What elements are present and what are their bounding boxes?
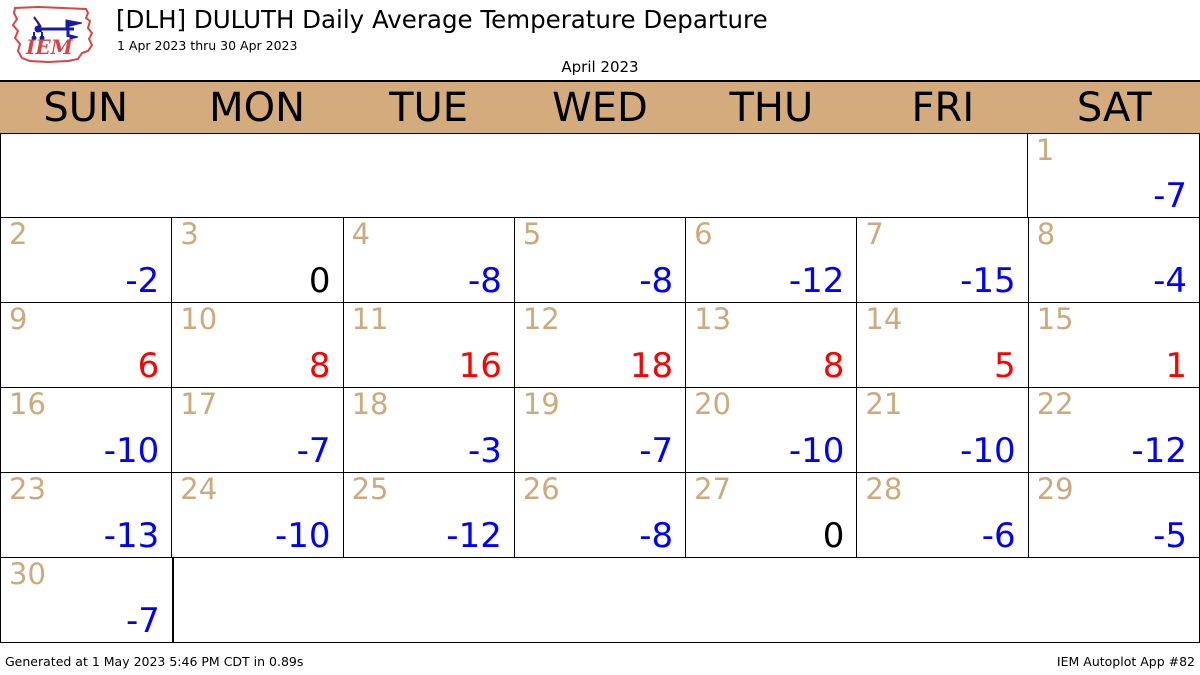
dow-header-tue: TUE	[343, 82, 514, 133]
calendar-day-cell[interactable]: 19-7	[514, 387, 686, 473]
calendar-day-cell[interactable]: 1-7	[1027, 133, 1200, 218]
calendar-day-value: -13	[104, 519, 160, 555]
iem-logo: IEM	[8, 4, 104, 66]
calendar-day-value: -12	[446, 519, 502, 555]
calendar-day-number: 7	[865, 219, 883, 249]
calendar-day-value: -10	[275, 519, 331, 555]
calendar-day-number: 10	[180, 304, 217, 334]
page-subtitle: 1 Apr 2023 thru 30 Apr 2023	[117, 38, 297, 53]
calendar-day-number: 1	[1036, 135, 1054, 165]
calendar-day-number: 22	[1037, 389, 1074, 419]
calendar-day-number: 18	[352, 389, 389, 419]
calendar-day-cell[interactable]: 20-10	[685, 387, 857, 473]
calendar-day-number: 15	[1037, 304, 1074, 334]
calendar-day-number: 17	[180, 389, 217, 419]
calendar-day-cell[interactable]: 108	[171, 302, 343, 388]
calendar-day-value: -7	[126, 604, 160, 640]
calendar-day-number: 14	[865, 304, 902, 334]
calendar-day-cell[interactable]: 138	[685, 302, 857, 388]
calendar-day-number: 16	[9, 389, 46, 419]
calendar-day-value: -10	[104, 434, 160, 470]
calendar-day-value: -4	[1153, 264, 1187, 300]
calendar-day-cell[interactable]: 96	[0, 302, 172, 388]
calendar-day-value: 18	[630, 349, 673, 385]
calendar-blank-cells	[173, 557, 1200, 643]
calendar-day-cell[interactable]: 6-12	[685, 217, 857, 303]
calendar-day-value: 0	[309, 264, 331, 300]
calendar-day-number: 5	[523, 219, 541, 249]
calendar-day-number: 23	[9, 474, 46, 504]
calendar-day-number: 19	[523, 389, 560, 419]
calendar-day-number: 11	[352, 304, 389, 334]
calendar-day-cell[interactable]: 25-12	[343, 472, 515, 558]
calendar-day-value: -5	[1153, 519, 1187, 555]
day-of-week-header-row: SUNMONTUEWEDTHUFRISAT	[0, 80, 1200, 134]
calendar-day-value: -15	[960, 264, 1016, 300]
dow-header-fri: FRI	[857, 82, 1028, 133]
calendar-week-row: 2-2304-85-86-127-158-4	[0, 218, 1200, 303]
iem-logo-icon: IEM	[8, 4, 104, 66]
calendar-day-value: 0	[823, 519, 845, 555]
calendar-day-number: 8	[1037, 219, 1055, 249]
calendar-day-value: -3	[468, 434, 502, 470]
iem-logo-text: IEM	[25, 35, 74, 59]
dow-header-thu: THU	[686, 82, 857, 133]
calendar-day-cell[interactable]: 151	[1028, 302, 1200, 388]
calendar-week-row: 16-1017-718-319-720-1021-1022-12	[0, 388, 1200, 473]
calendar-day-cell[interactable]: 21-10	[856, 387, 1028, 473]
dow-header-sun: SUN	[0, 82, 171, 133]
calendar-day-cell[interactable]: 29-5	[1028, 472, 1200, 558]
calendar-day-number: 13	[694, 304, 731, 334]
calendar-day-value: -10	[789, 434, 845, 470]
calendar-day-cell[interactable]: 30	[171, 217, 343, 303]
calendar-day-cell[interactable]: 16-10	[0, 387, 172, 473]
calendar-day-value: -7	[1153, 179, 1187, 215]
page-title: [DLH] DULUTH Daily Average Temperature D…	[116, 5, 768, 34]
dow-header-mon: MON	[171, 82, 342, 133]
page-header: IEM [DLH] DULUTH Daily Average Temperatu…	[0, 0, 1200, 78]
calendar-day-number: 6	[694, 219, 712, 249]
calendar-day-value: -12	[789, 264, 845, 300]
calendar-day-value: 5	[994, 349, 1016, 385]
calendar-day-cell[interactable]: 270	[685, 472, 857, 558]
calendar-day-number: 30	[9, 559, 46, 589]
calendar-day-number: 25	[352, 474, 389, 504]
calendar-day-value: -6	[982, 519, 1016, 555]
calendar-day-value: 16	[459, 349, 502, 385]
calendar-day-cell[interactable]: 28-6	[856, 472, 1028, 558]
calendar-day-number: 29	[1037, 474, 1074, 504]
calendar-day-value: 6	[138, 349, 160, 385]
calendar-day-number: 3	[180, 219, 198, 249]
dow-header-sat: SAT	[1029, 82, 1200, 133]
calendar-day-value: -8	[639, 264, 673, 300]
calendar-day-value: -7	[297, 434, 331, 470]
calendar-day-number: 24	[180, 474, 217, 504]
calendar-day-number: 27	[694, 474, 731, 504]
calendar-day-value: -2	[125, 264, 159, 300]
calendar-week-row: 9610811161218138145151	[0, 303, 1200, 388]
calendar-day-number: 2	[9, 219, 27, 249]
calendar-day-number: 21	[865, 389, 902, 419]
calendar-day-number: 4	[352, 219, 370, 249]
month-label: April 2023	[0, 58, 1200, 76]
calendar-day-cell[interactable]: 22-12	[1028, 387, 1200, 473]
calendar-week-row: 1-7	[0, 134, 1200, 218]
dow-header-wed: WED	[514, 82, 685, 133]
calendar-day-number: 9	[9, 304, 27, 334]
calendar-day-cell[interactable]: 5-8	[514, 217, 686, 303]
calendar-week-row: 23-1324-1025-1226-827028-629-5	[0, 473, 1200, 558]
calendar-day-cell[interactable]: 17-7	[171, 387, 343, 473]
calendar-day-value: -12	[1131, 434, 1187, 470]
calendar-day-value: -7	[639, 434, 673, 470]
calendar-day-cell[interactable]: 24-10	[171, 472, 343, 558]
calendar-day-cell[interactable]: 4-8	[343, 217, 515, 303]
calendar-day-value: -10	[960, 434, 1016, 470]
calendar-weeks: 1-72-2304-85-86-127-158-4961081116121813…	[0, 134, 1200, 643]
calendar-day-value: -8	[468, 264, 502, 300]
calendar-grid: SUNMONTUEWEDTHUFRISAT 1-72-2304-85-86-12…	[0, 80, 1200, 643]
calendar-day-value: 1	[1165, 349, 1187, 385]
calendar-day-cell[interactable]: 145	[856, 302, 1028, 388]
calendar-blank-cells	[0, 133, 1028, 218]
footer-app-label: IEM Autoplot App #82	[1057, 654, 1195, 669]
calendar-day-cell[interactable]: 1116	[343, 302, 515, 388]
calendar-day-value: 8	[823, 349, 845, 385]
calendar-day-number: 12	[523, 304, 560, 334]
calendar-day-cell[interactable]: 18-3	[343, 387, 515, 473]
calendar-day-cell[interactable]: 30-7	[0, 557, 173, 643]
calendar-day-number: 20	[694, 389, 731, 419]
calendar-day-cell[interactable]: 2-2	[0, 217, 172, 303]
calendar-day-cell[interactable]: 23-13	[0, 472, 172, 558]
calendar-day-value: -8	[639, 519, 673, 555]
calendar-day-number: 26	[523, 474, 560, 504]
footer-generated-text: Generated at 1 May 2023 5:46 PM CDT in 0…	[5, 654, 303, 669]
calendar-day-cell[interactable]: 26-8	[514, 472, 686, 558]
calendar-day-cell[interactable]: 7-15	[856, 217, 1028, 303]
calendar-day-number: 28	[865, 474, 902, 504]
calendar-day-value: 8	[309, 349, 331, 385]
calendar-day-cell[interactable]: 1218	[514, 302, 686, 388]
calendar-day-cell[interactable]: 8-4	[1028, 217, 1200, 303]
calendar-week-row: 30-7	[0, 558, 1200, 643]
